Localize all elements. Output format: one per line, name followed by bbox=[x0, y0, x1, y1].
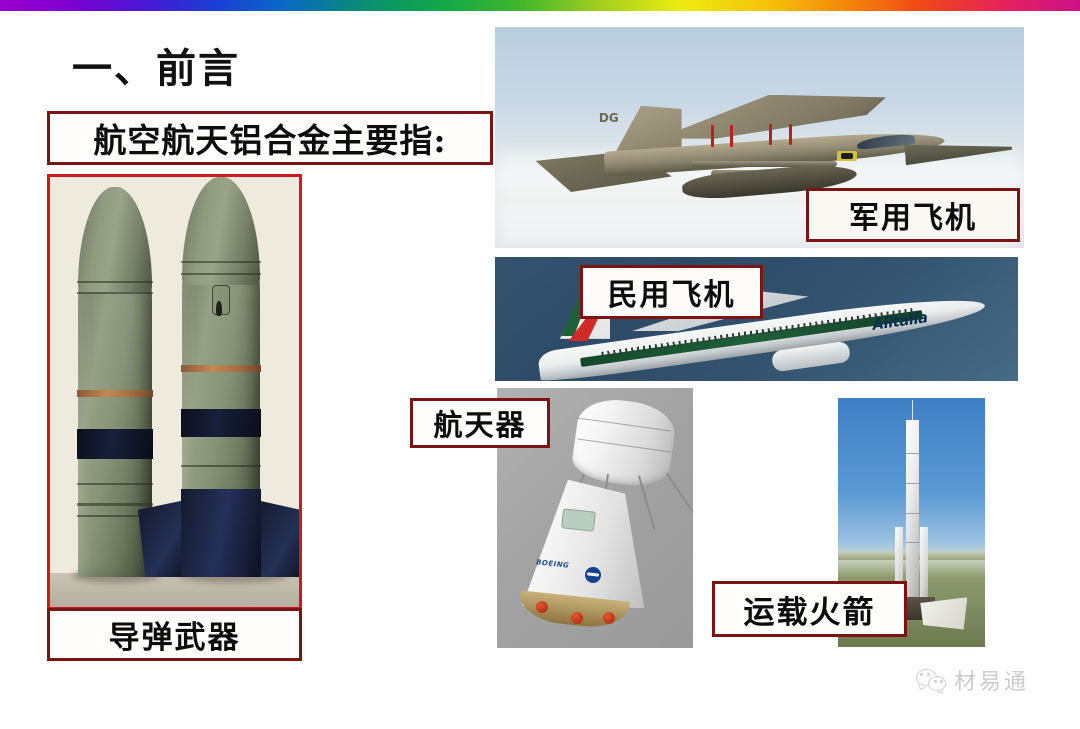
spacecraft-label: 航天器 bbox=[410, 398, 550, 448]
jet-tail-marking: DG bbox=[599, 111, 619, 125]
missile-weapon-label: 导弹武器 bbox=[47, 608, 302, 661]
launch-vehicle-label: 运载火箭 bbox=[712, 581, 907, 637]
missile-right bbox=[182, 177, 260, 577]
page-title: 一、前言 bbox=[72, 36, 240, 94]
civil-aircraft-label: 民用飞机 bbox=[580, 265, 763, 319]
missile-weapon-image bbox=[47, 174, 302, 610]
rainbow-top-bar bbox=[0, 0, 1080, 11]
military-aircraft-label: 军用飞机 bbox=[806, 188, 1020, 242]
wechat-icon bbox=[916, 669, 946, 691]
statement-box: 航空航天铝合金主要指: bbox=[47, 111, 493, 165]
watermark-text: 材易通 bbox=[954, 664, 1029, 696]
slide-canvas: 一、前言 航空航天铝合金主要指: bbox=[0, 0, 1080, 729]
watermark: 材易通 bbox=[916, 664, 1029, 696]
